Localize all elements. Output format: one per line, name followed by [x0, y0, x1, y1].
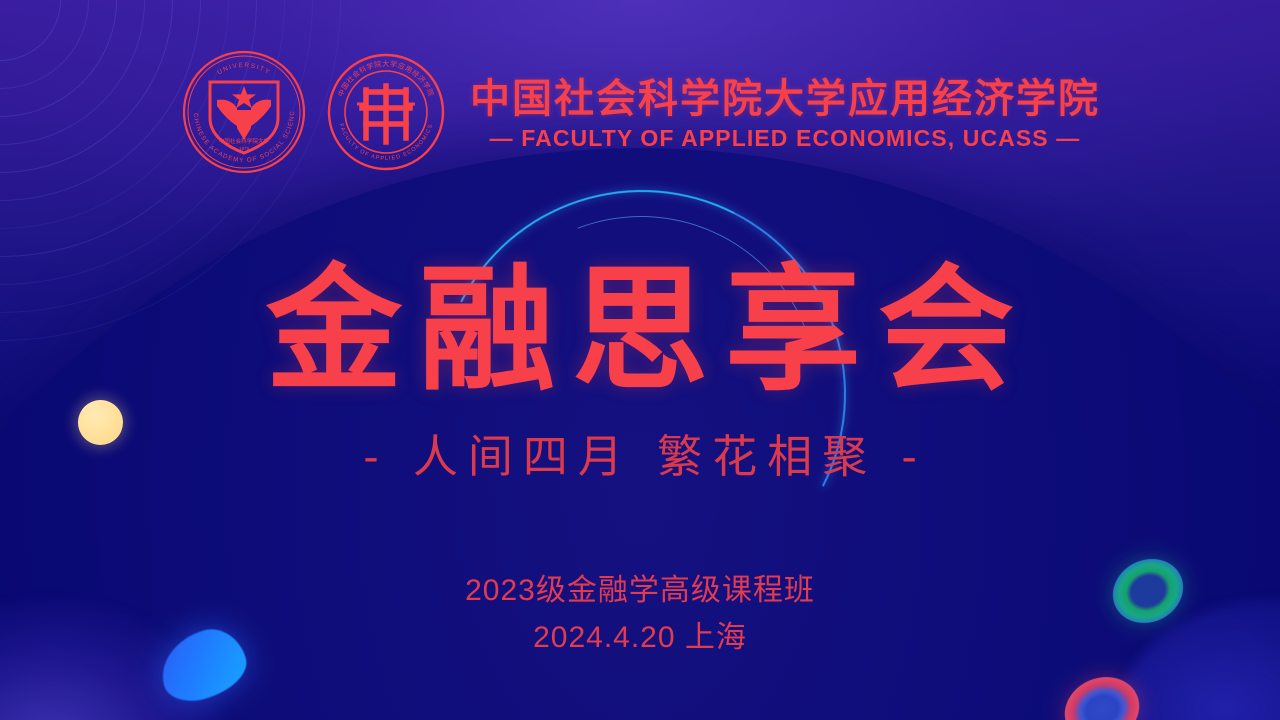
red-ring-icon [1055, 666, 1149, 720]
program-name: 2023级金融学高级课程班 [0, 572, 1280, 610]
title-block: 金融思享会 - 人间四月 繁花相聚 - [0, 262, 1280, 485]
header-logo-bar: UNIVERSITY OF CHINESE ACADEMY OF SOCIAL … [0, 48, 1280, 181]
school-name-en: — FACULTY OF APPLIED ECONOMICS, UCASS — [490, 125, 1081, 152]
school-wordmark: 中国社会科学院大学应用经济学院 — FACULTY OF APPLIED ECO… [470, 77, 1100, 152]
poster-canvas: UNIVERSITY OF CHINESE ACADEMY OF SOCIAL … [0, 0, 1280, 720]
date-location: 2024.4.20 上海 [0, 619, 1280, 657]
page-title: 金融思享会 [0, 262, 1280, 398]
ucass-shield-logo: UNIVERSITY OF CHINESE ACADEMY OF SOCIAL … [180, 48, 308, 181]
faculty-seal-logo: 中国社会科学院大学应用经济学院 FACULTY OF APPLIED ECONO… [326, 52, 446, 177]
svg-text:UNIVERSITY: UNIVERSITY [216, 62, 271, 76]
svg-text:中国社会科学院大学: 中国社会科学院大学 [219, 137, 270, 145]
page-subtitle: - 人间四月 繁花相聚 - [0, 420, 1280, 485]
school-name-cn: 中国社会科学院大学应用经济学院 [470, 77, 1100, 122]
svg-text:— 1978 —: — 1978 — [233, 146, 255, 151]
footer-info: 2023级金融学高级课程班 2024.4.20 上海 [0, 572, 1280, 656]
